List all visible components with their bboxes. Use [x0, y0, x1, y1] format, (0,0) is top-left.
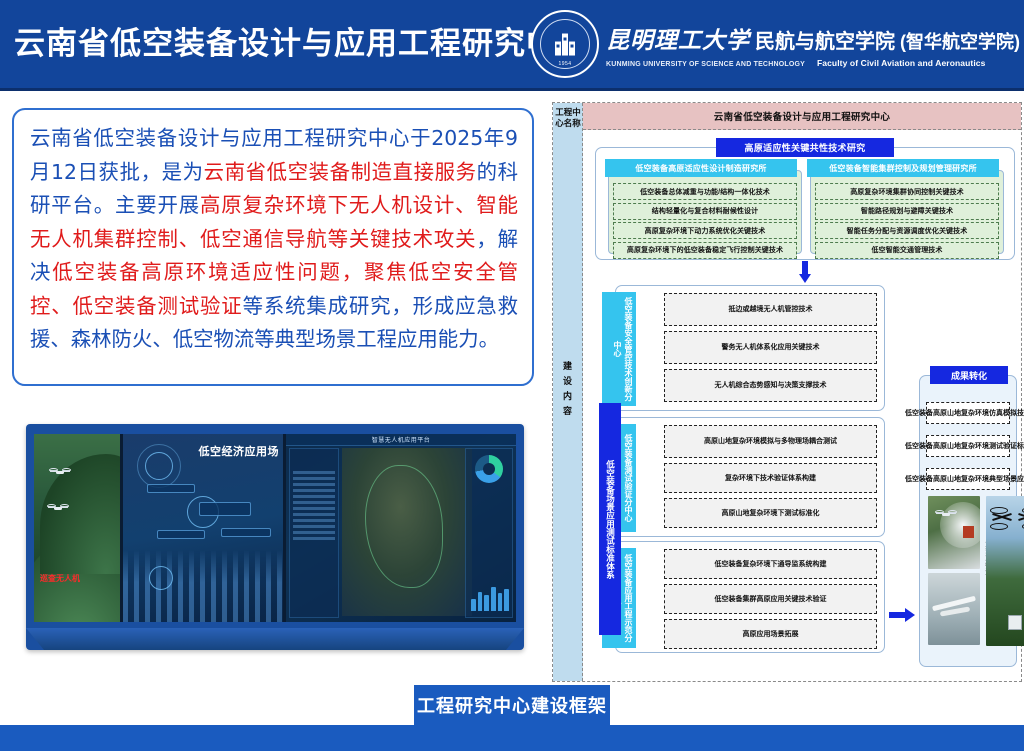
- university-seal-icon: 1954: [531, 10, 599, 78]
- subcenter-item-list: 低空装备复杂环境下通导监系统构建 低空装备集群高原应用关键技术验证 高原应用场景…: [664, 549, 877, 654]
- dashboard-right-panel: [465, 448, 513, 618]
- university-logo: 1954 昆明理工大学 民航与航空学院 (智华航空学院) KUNMING UNI…: [531, 8, 1020, 80]
- subcenter-item: 无人机综合态势感知与决策支撑技术: [664, 369, 877, 402]
- footer-title: 工程研究中心建设框架: [414, 685, 610, 725]
- drone-icon-2: [48, 504, 68, 513]
- callout-chip-4: [221, 528, 271, 537]
- outcome-item: 低空装备高原山地复杂环境测试验证标准: [926, 435, 1010, 457]
- drone-icon: [936, 510, 956, 519]
- faculty-name-cn: 民航与航空学院: [755, 25, 895, 54]
- institute-head: 低空装备高原适应性设计制造研究所: [605, 159, 797, 177]
- faculty-name-en: Faculty of Civil Aviation and Aeronautic…: [817, 58, 985, 68]
- subcenter-test-verification: 低空装备测试验证分中心 高原山地复杂环境模拟与多物理场耦合测试 复杂环境下技术验…: [615, 417, 885, 537]
- subcenter-item: 低空装备集群高原应用关键技术验证: [664, 584, 877, 614]
- outcome-head: 成果转化: [930, 366, 1008, 384]
- logo-text-block: 昆明理工大学 民航与航空学院 (智华航空学院) KUNMING UNIVERSI…: [606, 21, 1020, 68]
- application-photo-frame: 巡查无人机 低空经济应用场 智慧无人机应用平台: [26, 424, 524, 650]
- university-name-en: KUNMING UNIVERSITY OF SCIENCE AND TECHNO…: [606, 61, 805, 68]
- diagram-sidebar: 工程中心名称 建设内容: [553, 103, 583, 681]
- smoke-shape: [940, 502, 980, 548]
- institute-item-list: 低空装备总体减重与功能/结构一体化技术 结构轻量化与复合材料耐候性设计 高原复杂…: [613, 183, 797, 261]
- subcenter-application-demo: 低空装备应用工程示范分中心 低空装备复杂环境下通导监系统构建 低空装备集群高原应…: [615, 541, 885, 653]
- heavy-drone-icon: [992, 506, 1024, 528]
- introduction-text: 云南省低空装备设计与应用工程研究中心于2025年9月12日获批，是为云南省低空装…: [30, 122, 518, 357]
- application-photo: 巡查无人机 低空经济应用场 智慧无人机应用平台: [34, 434, 516, 622]
- subcenter-item-list: 抵边或越境无人机管控技术 警务无人机体系化应用关键技术 无人机综合态势感知与决策…: [664, 293, 877, 407]
- diagram-sidebar-content-label: 建设内容: [560, 361, 575, 421]
- diagram-title: 云南省低空装备设计与应用工程研究中心: [714, 109, 890, 123]
- radar-ring-icon-4: [149, 566, 173, 590]
- institute-item: 高原复杂环境下的低空装备稳定飞行控制关键技术: [613, 242, 797, 259]
- outcome-photo-column-left: [928, 496, 980, 656]
- dashboard-left-panel: [289, 448, 339, 618]
- photo-pane-mountain-drone: 巡查无人机: [34, 434, 120, 622]
- intro-highlight-run: 云南省低空装备制造直接服务: [204, 160, 477, 184]
- page-header: 云南省低空装备设计与应用工程研究中心 1954 昆明理工大学 民航与航空学院 (…: [0, 0, 1024, 91]
- institute-item: 低空装备总体减重与功能/结构一体化技术: [613, 183, 797, 200]
- seal-building-icon: [552, 32, 578, 58]
- photo-pane-lowaltitude-economy: 低空经济应用场: [123, 434, 283, 622]
- callout-chip: [147, 484, 195, 493]
- photo-inspection-aircraft: [928, 573, 980, 645]
- dashboard-title: 智慧无人机应用平台: [372, 435, 431, 444]
- subcenter-tag: 低空装备安全管控技术创新分中心: [602, 292, 636, 406]
- subcenter-item: 高原山地复杂环境模拟与多物理场耦合测试: [664, 425, 877, 458]
- dashboard-topbar: 智慧无人机应用平台: [286, 434, 516, 446]
- institute-item: 智能路径规划与避障关键技术: [815, 203, 999, 220]
- institute-card-swarm-control: 低空装备智能集群控制及规划管理研究所 高原复杂环境集群协同控制关键技术 智能路径…: [810, 170, 1004, 254]
- institute-item-list: 高原复杂环境集群协同控制关键技术 智能路径规划与避障关键技术 智能任务分配与资源…: [815, 183, 999, 261]
- institute-item: 低空智能交通管理技术: [815, 242, 999, 259]
- diagram-sidebar-name-label: 工程中心名称: [555, 107, 581, 129]
- university-name-cn: 昆明理工大学: [606, 21, 750, 55]
- target-box-shape: [963, 526, 974, 538]
- bar-chart: [471, 581, 509, 611]
- institute-item: 高原复杂环境集群协同控制关键技术: [815, 183, 999, 200]
- diagram-title-bar: 云南省低空装备设计与应用工程研究中心: [583, 103, 1021, 130]
- cargo-package-shape: [1008, 615, 1022, 630]
- outcome-item: 低空装备高原山地复杂环境典型场景应用: [926, 468, 1010, 490]
- outcome-photo-strip: 消防 巡检 大载重物运: [925, 496, 1011, 656]
- photo-heavy-cargo-drone: [986, 496, 1024, 646]
- arrow-right-icon: [889, 608, 915, 622]
- page-title: 云南省低空装备设计与应用工程研究中心: [14, 18, 590, 63]
- outcome-photo-column-right: [986, 496, 1024, 656]
- photo-firefighting: [928, 496, 980, 569]
- dashboard-row-list: [293, 471, 335, 543]
- research-section-head: 高原适应性关键共性技术研究: [716, 138, 894, 157]
- dashboard-map: [342, 448, 472, 616]
- build-content-section: 低空装备安全管控技术创新分中心 抵边或越境无人机管控技术 警务无人机体系化应用关…: [595, 285, 885, 669]
- framework-diagram: 工程中心名称 建设内容 云南省低空装备设计与应用工程研究中心 高原适应性关键共性…: [552, 102, 1022, 682]
- subcenter-item: 高原山地复杂环境下测试标准化: [664, 498, 877, 528]
- callout-chip-3: [157, 530, 205, 539]
- radar-ring-icon-2: [137, 444, 181, 488]
- photo-stand: [26, 628, 524, 650]
- drone-icon: [50, 468, 70, 477]
- callout-chip-2: [199, 502, 251, 516]
- institute-item: 结构轻量化与复合材料耐候性设计: [613, 203, 797, 220]
- footer-bar: [0, 725, 1024, 751]
- institute-item: 智能任务分配与资源调度优化关键技术: [815, 222, 999, 239]
- subcenter-item: 高原应用场景拓展: [664, 619, 877, 649]
- donut-chart: [475, 455, 503, 483]
- institute-head: 低空装备智能集群控制及规划管理研究所: [807, 159, 999, 177]
- city-skyline-shape: [123, 550, 283, 622]
- standard-system-label: 低空装备场景应用测试标准体系: [599, 403, 621, 635]
- photo-pane-title: 低空经济应用场: [199, 443, 280, 459]
- subcenter-item: 复杂环境下技术验证体系构建: [664, 463, 877, 493]
- research-section: 高原适应性关键共性技术研究 低空装备高原适应性设计制造研究所 低空装备总体减重与…: [595, 147, 1015, 260]
- outcome-section: 成果转化 低空装备高原山地复杂环境仿真模拟技术 低空装备高原山地复杂环境测试验证…: [919, 375, 1017, 667]
- subcenter-item: 警务无人机体系化应用关键技术: [664, 331, 877, 364]
- subcenter-item: 抵边或越境无人机管控技术: [664, 293, 877, 326]
- subcenter-safety-control: 低空装备安全管控技术创新分中心 抵边或越境无人机管控技术 警务无人机体系化应用关…: [615, 285, 885, 411]
- seal-year: 1954: [558, 61, 571, 67]
- photo-pane-dashboard: 智慧无人机应用平台: [286, 434, 516, 622]
- outcome-item-list: 低空装备高原山地复杂环境仿真模拟技术 低空装备高原山地复杂环境测试验证标准 低空…: [926, 402, 1010, 501]
- subcenter-item: 低空装备复杂环境下通导监系统构建: [664, 549, 877, 579]
- subcenter-item-list: 高原山地复杂环境模拟与多物理场耦合测试 复杂环境下技术验证体系构建 高原山地复杂…: [664, 425, 877, 533]
- arrow-down-icon: [799, 261, 811, 283]
- institute-card-design-manufacture: 低空装备高原适应性设计制造研究所 低空装备总体减重与功能/结构一体化技术 结构轻…: [608, 170, 802, 254]
- institute-item: 高原复杂环境下动力系统优化关键技术: [613, 222, 797, 239]
- introduction-card: 云南省低空装备设计与应用工程研究中心于2025年9月12日获批，是为云南省低空装…: [12, 108, 534, 386]
- photo-pane-label: 巡查无人机: [40, 573, 80, 584]
- faculty-name-cn-sub: (智华航空学院): [900, 28, 1020, 54]
- outcome-item: 低空装备高原山地复杂环境仿真模拟技术: [926, 402, 1010, 424]
